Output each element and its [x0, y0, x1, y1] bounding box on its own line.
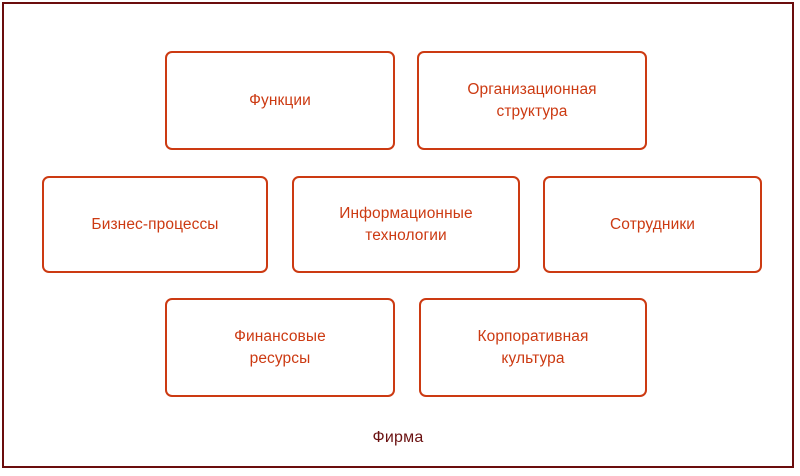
component-label-business-processes: Бизнес-процессы [85, 214, 224, 236]
component-label-information-technologies: Информационные технологии [333, 203, 478, 247]
component-label-financial-resources: Финансовые ресурсы [228, 326, 332, 370]
component-label-employees: Сотрудники [604, 214, 701, 236]
component-box-information-technologies[interactable]: Информационные технологии [292, 176, 520, 273]
component-label-corporate-culture: Корпоративная культура [471, 326, 594, 370]
component-label-org-structure: Организационная структура [461, 79, 602, 123]
component-box-corporate-culture[interactable]: Корпоративная культура [419, 298, 647, 397]
component-box-financial-resources[interactable]: Финансовые ресурсы [165, 298, 395, 397]
component-box-employees[interactable]: Сотрудники [543, 176, 762, 273]
firm-components-diagram: Функции Организационная структура Бизнес… [0, 0, 800, 476]
component-box-functions[interactable]: Функции [165, 51, 395, 150]
component-box-org-structure[interactable]: Организационная структура [417, 51, 647, 150]
component-box-business-processes[interactable]: Бизнес-процессы [42, 176, 268, 273]
component-label-functions: Функции [243, 90, 317, 112]
diagram-caption-firm: Фирма [4, 429, 792, 447]
diagram-outer-frame: Функции Организационная структура Бизнес… [2, 2, 794, 468]
